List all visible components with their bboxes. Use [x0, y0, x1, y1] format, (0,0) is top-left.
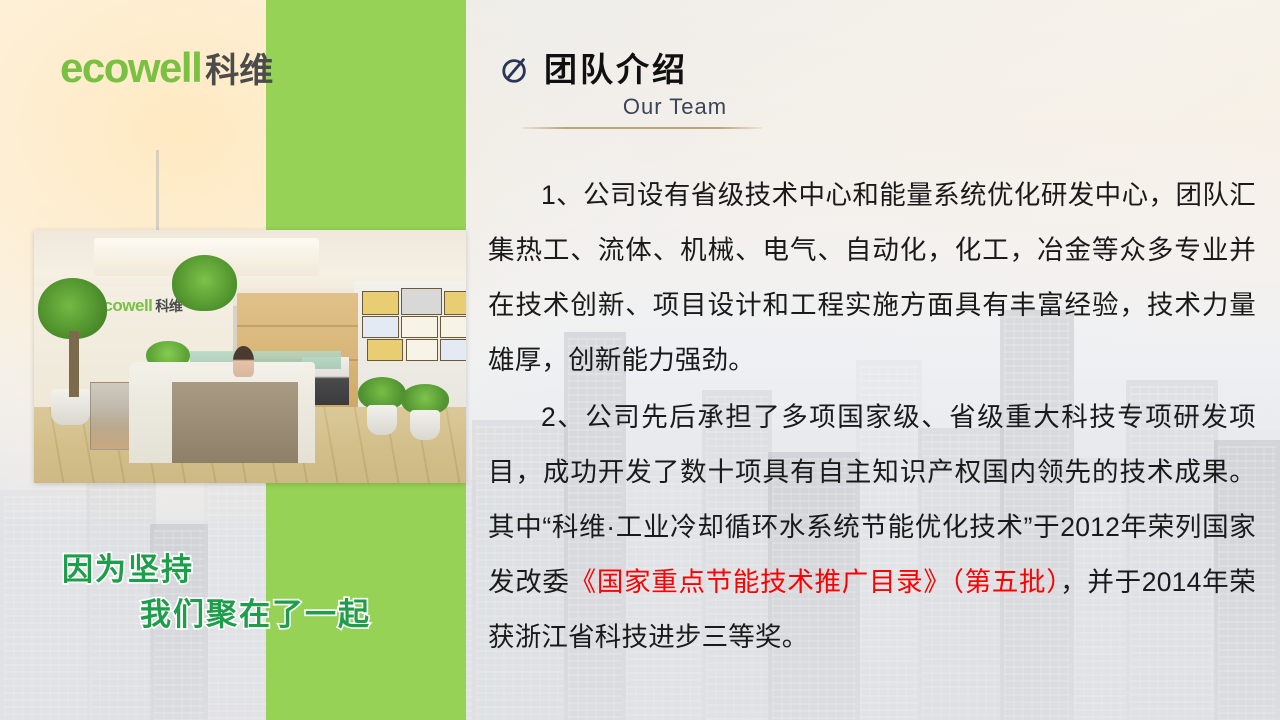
photo-certificate-frame [367, 339, 404, 361]
office-lobby-photo: ecowell科维 [34, 230, 466, 483]
slide-root: ecowell 科维 ecowell科维 [0, 0, 1280, 720]
photo-wall-logo: ecowell科维 [94, 296, 182, 316]
photo-certificate-frame [362, 316, 399, 338]
photo-plant-pot [410, 410, 440, 440]
page-subtitle: Our Team [500, 94, 830, 120]
brand-logo: ecowell 科维 [60, 47, 273, 89]
brand-logo-cn: 科维 [205, 54, 273, 88]
photo-certificate-frame [401, 288, 442, 315]
photo-desk-panel [172, 382, 297, 463]
photo-plant-pot [367, 405, 397, 435]
photo-plant [38, 278, 107, 339]
photo-plant-trunk [69, 331, 80, 397]
body-text-block: 1、公司设有省级技术中心和能量系统优化研发中心，团队汇集热工、流体、机械、电气、… [488, 168, 1256, 667]
slogan-line-1: 因为坚持 [62, 548, 462, 593]
photo-certificate-frame [440, 316, 466, 338]
photo-certificate-frame [440, 339, 466, 361]
photo-certificate-frame [444, 291, 466, 316]
section-header: 团队介绍 Our Team [500, 52, 830, 129]
content-panel: 团队介绍 Our Team 1、公司设有省级技术中心和能量系统优化研发中心，团队… [470, 0, 1280, 720]
highlighted-catalog-name: 《国家重点节能技术推广目录》（第五批） [570, 567, 1061, 597]
brand-logo-mark: ecowell [60, 47, 201, 89]
photo-shelf-rack [90, 382, 131, 450]
photo-certificate-frame [406, 339, 438, 361]
slogan-line-2: 我们聚在了一起 [62, 593, 462, 638]
photo-receptionist [233, 346, 255, 376]
photo-certificate-frame [362, 291, 399, 316]
paragraph-2: 2、公司先后承担了多项国家级、省级重大科技专项研发项目，成功开发了数十项具有自主… [488, 390, 1256, 665]
page-title: 团队介绍 [544, 52, 688, 88]
paragraph-1: 1、公司设有省级技术中心和能量系统优化研发中心，团队汇集热工、流体、机械、电气、… [488, 168, 1256, 388]
slogan-block: 因为坚持 我们聚在了一起 [62, 548, 462, 638]
paragraph-text: 1、公司设有省级技术中心和能量系统优化研发中心，团队汇集热工、流体、机械、电气、… [488, 180, 1256, 375]
header-divider [522, 127, 762, 129]
photo-plant [172, 255, 237, 311]
photo-certificate-frame [401, 316, 438, 338]
diameter-slashed-circle-icon [500, 55, 530, 85]
